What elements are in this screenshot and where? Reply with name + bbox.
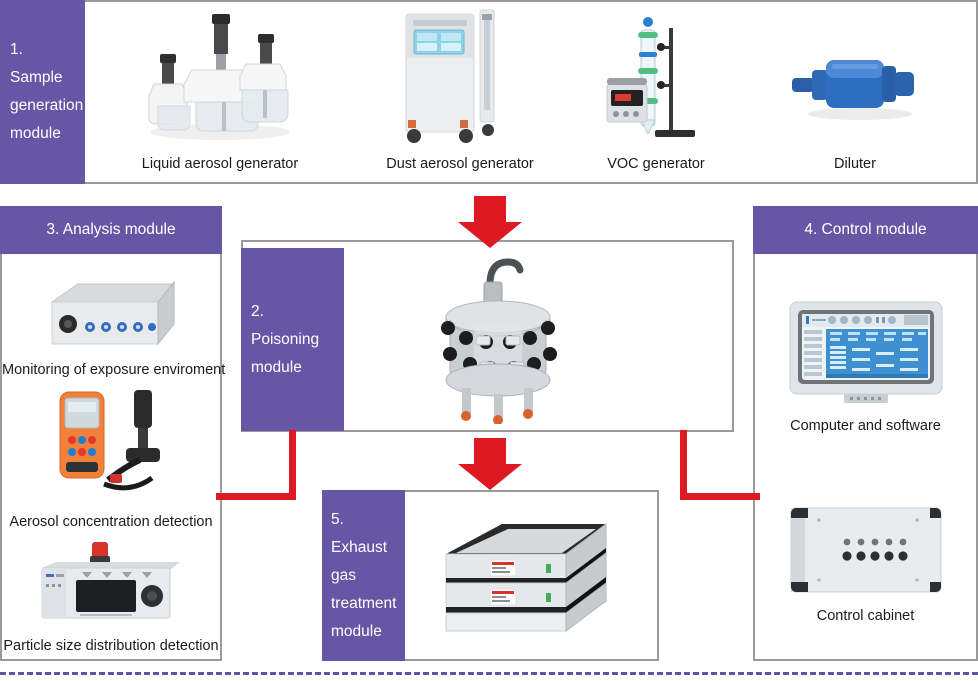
control-module-label: 4. Control module [804, 216, 926, 244]
monitoring-unit-photo [38, 272, 188, 356]
particle-size-analyzer-photo [34, 540, 194, 632]
poisoning-module-label-line-2: module [251, 354, 302, 382]
analysis-module-label-block: 3. Analysis module [0, 206, 222, 254]
computer-and-software-photo [788, 300, 944, 406]
voc-generator-caption: VOC generator [576, 156, 736, 172]
exhaust-module-label-line-2: gas [331, 562, 356, 590]
exhaust-module-label-block: 5. Exhaust gas treatment module [322, 490, 405, 661]
liquid-aerosol-generator-caption: Liquid aerosol generator [120, 156, 320, 172]
exhaust-module-label-line-3: treatment [331, 590, 396, 618]
computer-and-software-caption: Computer and software [758, 418, 973, 434]
diagram-canvas: 1. Sample generation module [0, 0, 978, 681]
line-poisoning-to-control-horizontal [680, 493, 760, 500]
particle-size-analyzer-caption: Particle size distribution detection [2, 638, 220, 654]
analysis-module-label: 3. Analysis module [46, 216, 175, 244]
diluter-photo [790, 48, 920, 122]
monitoring-unit-caption: Monitoring of exposure enviroment [2, 362, 220, 378]
dust-aerosol-generator-caption: Dust aerosol generator [362, 156, 558, 172]
line-poisoning-to-control-vertical [680, 430, 687, 500]
exhaust-module-label-line-1: 5. Exhaust [331, 506, 396, 562]
control-module-label-block: 4. Control module [753, 206, 978, 254]
sample-generation-label-line-3: module [10, 120, 75, 148]
sample-generation-label-block: 1. Sample generation module [0, 0, 85, 184]
arrow-sample-to-poisoning-icon [457, 196, 523, 248]
sample-generation-label-line-1: 1. Sample [10, 36, 75, 92]
exhaust-module-label-line-4: module [331, 618, 382, 646]
voc-generator-photo [605, 12, 707, 144]
bottom-dashed-divider [0, 672, 978, 675]
diluter-caption: Diluter [790, 156, 920, 172]
hepa-filter-stack-photo [434, 518, 624, 640]
sample-generation-label-line-2: generation [10, 92, 75, 120]
poisoning-module-label-block: 2. Poisoning module [241, 248, 344, 431]
exposure-chamber-photo [428, 254, 568, 424]
liquid-aerosol-generator-photo [140, 14, 300, 142]
line-poisoning-to-analysis-horizontal [216, 493, 296, 500]
dust-aerosol-generator-photo [398, 8, 520, 144]
line-poisoning-to-analysis-vertical [289, 430, 296, 500]
control-cabinet-caption: Control cabinet [758, 608, 973, 624]
control-cabinet-photo [785, 498, 947, 602]
poisoning-module-label-line-1: 2. Poisoning [251, 298, 334, 354]
aerosol-concentration-detector-caption: Aerosol concentration detection [2, 514, 220, 530]
aerosol-concentration-detector-photo [48, 388, 178, 506]
arrow-poisoning-to-exhaust-icon [457, 438, 523, 490]
